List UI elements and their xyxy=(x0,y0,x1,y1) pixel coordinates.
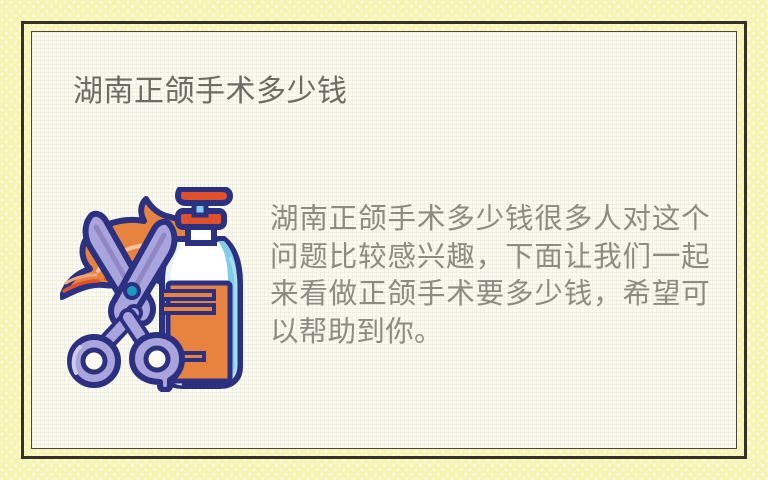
body-paragraph: 湖南正颌手术多少钱很多人对这个问题比较感兴趣，下面让我们一起来看做正颌手术要多少… xyxy=(270,201,710,351)
scissors-hair-lock-pump-bottle-illustration xyxy=(60,187,250,392)
inner-frame-panel: 湖南正颌手术多少钱 xyxy=(31,31,737,449)
outer-frame-border: 湖南正颌手术多少钱 xyxy=(21,21,747,459)
page-canvas: 湖南正颌手术多少钱 xyxy=(0,0,768,480)
content-row: 湖南正颌手术多少钱很多人对这个问题比较感兴趣，下面让我们一起来看做正颌手术要多少… xyxy=(60,185,714,392)
page-title: 湖南正颌手术多少钱 xyxy=(73,73,348,111)
